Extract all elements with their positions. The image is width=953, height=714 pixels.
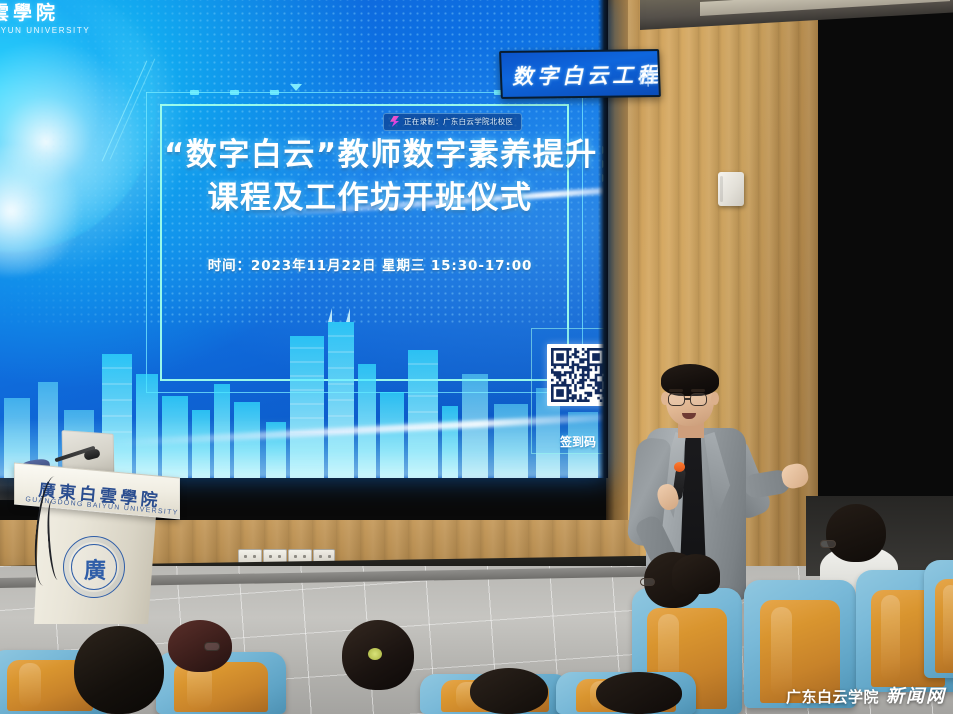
screen-logo-en: AIYUN UNIVERSITY xyxy=(0,26,110,35)
slide-title-line-1: “数字白云”教师数字素养提升 xyxy=(164,134,576,177)
speaker-eyebrow xyxy=(691,389,705,392)
watermark-university: 广东白云学院 xyxy=(786,686,879,707)
attendee-head xyxy=(672,554,720,594)
wall-mounted-speaker-box-icon xyxy=(718,172,744,206)
seal-icon: 印 xyxy=(638,65,656,90)
frame-node xyxy=(230,90,239,95)
university-crest-icon: 廣 xyxy=(63,536,125,598)
slide-datetime: 时间：2023年11月22日 星期三 15:30-17:00 xyxy=(164,254,576,274)
attendee-head xyxy=(596,672,682,714)
frame-node xyxy=(270,90,279,95)
crest-glyph: 廣 xyxy=(64,553,126,585)
seat-panel xyxy=(935,579,953,673)
eyeglasses-icon xyxy=(668,393,685,406)
speaker-ear xyxy=(711,392,719,405)
frame-node xyxy=(190,90,199,95)
attendee-head xyxy=(470,668,548,714)
speaker-eyebrow xyxy=(669,389,683,392)
frame-line xyxy=(160,104,568,106)
auditorium-seat xyxy=(924,560,953,678)
recording-icon xyxy=(390,116,399,127)
attendee-head xyxy=(826,504,886,562)
screen-logo-cn: 雲學院 xyxy=(0,0,110,25)
eyeglasses-icon xyxy=(640,578,655,586)
attendee-head xyxy=(168,620,232,672)
eyeglasses-icon xyxy=(690,393,707,406)
qr-code-canvas xyxy=(551,348,605,402)
wall-banner: 数字白云工程 印 xyxy=(499,49,661,99)
triangle-marker-icon xyxy=(290,84,302,91)
recording-status-badge: 正在录制：广东白云学院北校区 xyxy=(383,113,522,131)
eyeglasses-icon xyxy=(204,642,220,651)
photo-scene: 雲學院 AIYUN UNIVERSITY 正在录制：广东白云学院北校区 “数字白… xyxy=(0,0,953,714)
attendee-head xyxy=(74,626,164,714)
slide-title-line-2: 课程及工作坊开班仪式 xyxy=(164,177,576,220)
recording-status-text: 正在录制：广东白云学院北校区 xyxy=(404,116,513,127)
hair-clip-icon xyxy=(368,648,382,660)
watermark: 广东白云学院 新闻网 xyxy=(786,682,946,708)
watermark-news: 新闻网 xyxy=(886,682,946,708)
slide-title-block: “数字白云”教师数字素养提升 课程及工作坊开班仪式 xyxy=(164,134,576,220)
eyeglasses-icon xyxy=(820,540,836,548)
screen-corner-university-logo: 雲學院 AIYUN UNIVERSITY xyxy=(0,0,110,35)
eyeglasses-bridge xyxy=(685,398,691,400)
microphone-windscreen xyxy=(674,462,685,472)
